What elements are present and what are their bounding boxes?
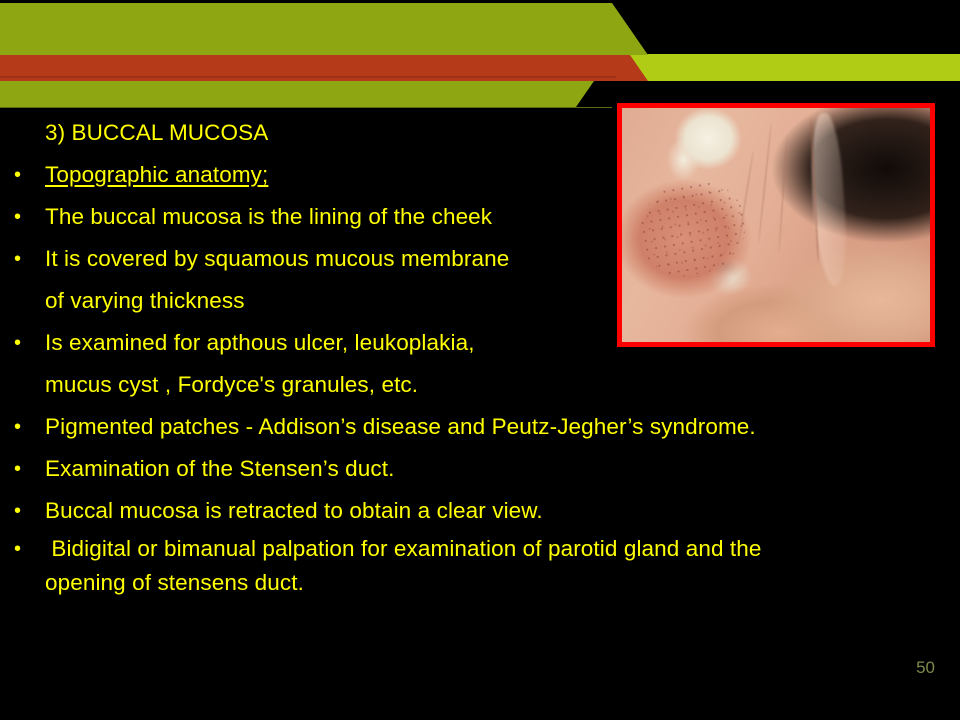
bullet-line: •Examination of the Stensen’s duct. [0,448,960,490]
line-text: Bidigital or bimanual palpation for exam… [45,532,762,566]
bullet-marker: • [14,196,21,238]
line-text: Topographic anatomy; [45,154,268,196]
line-text: Is examined for apthous ulcer, leukoplak… [45,322,475,364]
bullet-continuation-line: of varying thickness [0,280,960,322]
bullet-line: •Is examined for apthous ulcer, leukopla… [0,322,960,364]
line-text: Buccal mucosa is retracted to obtain a c… [45,490,543,532]
bullet-line: •The buccal mucosa is the lining of the … [0,196,960,238]
bullet-marker: • [14,238,21,280]
bullet-marker: • [14,448,21,490]
bullet-marker: • [14,322,21,364]
bullet-line: •It is covered by squamous mucous membra… [0,238,960,280]
bullet-continuation-line: mucus cyst , Fordyce's granules, etc. [0,364,960,406]
presentation-slide: 3) BUCCAL MUCOSA•Topographic anatomy;•Th… [0,0,960,720]
slide-number: 50 [916,658,935,678]
line-text: of varying thickness [45,280,245,322]
line-text: The buccal mucosa is the lining of the c… [45,196,492,238]
banner-red-rule [0,76,616,78]
slide-body-text: 3) BUCCAL MUCOSA•Topographic anatomy;•Th… [0,112,960,600]
bullet-marker: • [14,490,21,532]
bullet-marker: • [14,532,21,566]
line-text: It is covered by squamous mucous membran… [45,238,509,280]
bullet-marker: • [14,154,21,196]
bullet-line: • Bidigital or bimanual palpation for ex… [0,532,960,566]
line-text: Examination of the Stensen’s duct. [45,448,394,490]
bullet-line: •Buccal mucosa is retracted to obtain a … [0,490,960,532]
banner-olive-bottom-block [0,81,612,107]
line-text: 3) BUCCAL MUCOSA [45,112,268,154]
banner-hairline [0,107,612,108]
bullet-continuation-line: opening of stensens duct. [0,566,960,600]
bullet-line: •Pigmented patches - Addison’s disease a… [0,406,960,448]
page-title: 3) BUCCAL MUCOSA [0,112,960,154]
line-text: mucus cyst , Fordyce's granules, etc. [45,364,418,406]
banner-olive-top-block [0,3,648,55]
line-text: Pigmented patches - Addison’s disease an… [45,406,756,448]
bullet-line: •Topographic anatomy; [0,154,960,196]
bullet-marker: • [14,406,21,448]
slide-header-banner [0,0,960,112]
line-text: opening of stensens duct. [45,566,304,600]
